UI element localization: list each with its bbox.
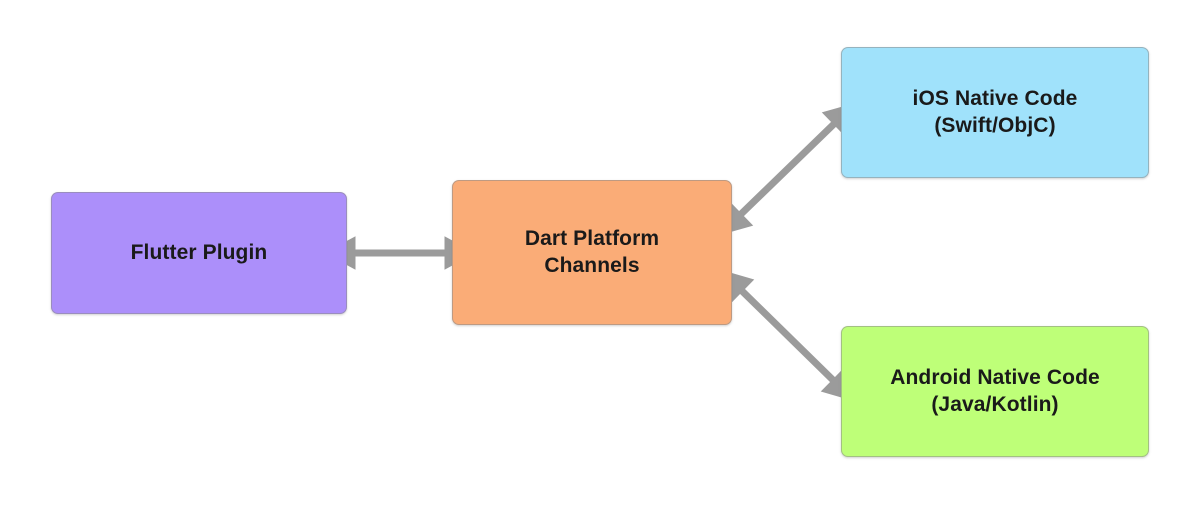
diagram-canvas: Flutter Plugin Dart Platform Channels iO…: [0, 0, 1200, 510]
node-flutter-plugin-label: Flutter Plugin: [121, 240, 278, 267]
node-flutter-plugin[interactable]: Flutter Plugin: [51, 192, 347, 314]
node-dart-platform-channels-label: Dart Platform Channels: [515, 226, 669, 280]
arrow-channels-to-android: [740, 289, 835, 382]
node-ios-native-code[interactable]: iOS Native Code (Swift/ObjC): [841, 47, 1149, 178]
node-android-native-code-label: Android Native Code (Java/Kotlin): [880, 365, 1110, 419]
node-android-native-code[interactable]: Android Native Code (Java/Kotlin): [841, 326, 1149, 457]
node-dart-platform-channels[interactable]: Dart Platform Channels: [452, 180, 732, 325]
arrow-channels-to-ios: [739, 122, 836, 216]
node-ios-native-code-label: iOS Native Code (Swift/ObjC): [903, 86, 1088, 140]
